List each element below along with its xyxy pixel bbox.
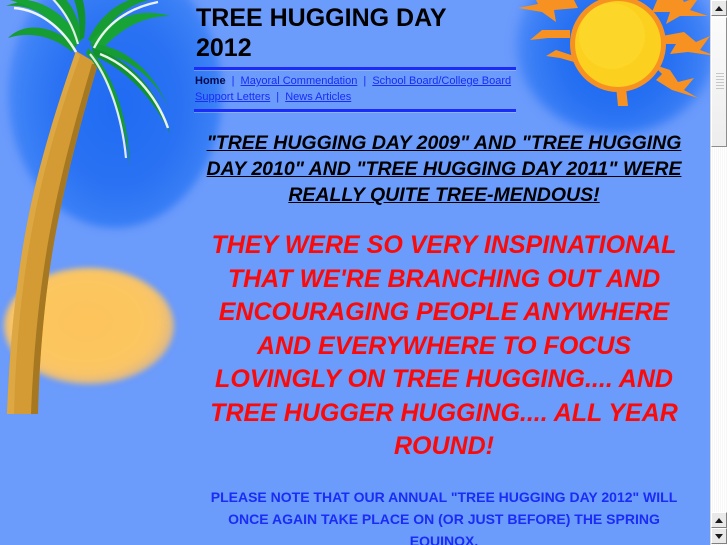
note-spring-equinox: PLEASE NOTE THAT OUR ANNUAL "TREE HUGGIN… (194, 486, 694, 545)
triangle-up-icon (715, 6, 723, 11)
triangle-up-icon (715, 518, 723, 523)
scroll-thumb-grip (716, 73, 724, 91)
page-canvas: TREE HUGGING DAY 2012 Home | Mayoral Com… (0, 0, 710, 545)
vertical-scrollbar[interactable] (710, 0, 727, 545)
headline-inspirational: THEY WERE SO VERY INSPINATIONAL THAT WE'… (194, 229, 694, 464)
nav-rule-bottom (194, 109, 516, 112)
nav-separator: | (360, 75, 369, 87)
page-title: TREE HUGGING DAY 2012 (194, 0, 496, 63)
scroll-down-arrow[interactable] (711, 528, 727, 544)
navigation-bar: Home | Mayoral Commendation | School Boa… (194, 70, 517, 107)
scroll-up-arrow-bottom[interactable] (711, 512, 727, 528)
nav-separator: | (273, 91, 282, 103)
nav-item-home[interactable]: Home (195, 75, 226, 87)
headline-previous-years: "TREE HUGGING DAY 2009" AND "TREE HUGGIN… (194, 130, 694, 208)
triangle-down-icon (715, 534, 723, 539)
scroll-up-arrow[interactable] (711, 0, 727, 16)
nav-item-mayoral-commendation[interactable]: Mayoral Commendation (241, 75, 358, 87)
nav-separator: | (229, 75, 238, 87)
content-column: TREE HUGGING DAY 2012 Home | Mayoral Com… (194, 0, 694, 545)
nav-item-news-articles[interactable]: News Articles (285, 91, 351, 103)
palm-background-glow (8, 0, 222, 228)
sand-patch-illustration (4, 268, 174, 384)
scroll-thumb[interactable] (711, 17, 727, 147)
